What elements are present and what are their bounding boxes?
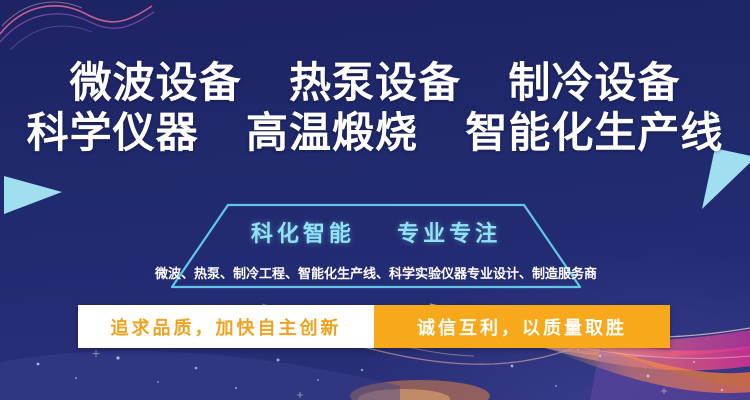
right-triangle-icon <box>702 148 750 217</box>
headline-line-2: 科学仪器 高温煅烧 智能化生产线 <box>0 108 750 158</box>
headline-item-heatpump: 热泵设备 <box>287 59 463 106</box>
headline-line-1: 微波设备 热泵设备 制冷设备 <box>0 58 750 108</box>
slogan-primary-left: 科化智能 <box>251 221 355 246</box>
headline-item-microwave: 微波设备 <box>68 59 244 106</box>
bottom-bar-right: 诚信互利，以质量取胜 <box>374 305 670 348</box>
headline: 微波设备 热泵设备 制冷设备 科学仪器 高温煅烧 智能化生产线 <box>0 58 750 157</box>
left-triangle-icon <box>4 176 62 214</box>
promo-banner: 微波设备 热泵设备 制冷设备 科学仪器 高温煅烧 智能化生产线 科化智能 专业专… <box>0 0 750 400</box>
slogan-sub: 微波、热泵、制冷工程、智能化生产线、科学实验仪器专业设计、制造服务商 <box>100 263 652 282</box>
headline-item-instruments: 科学仪器 <box>25 109 201 156</box>
bottom-bar-left: 追求品质，加快自主创新 <box>78 305 374 348</box>
slogan-primary-right: 专业专注 <box>397 221 501 246</box>
headline-item-production-line: 智能化生产线 <box>463 109 725 156</box>
slogan-primary: 科化智能 专业专注 <box>170 216 582 248</box>
bottom-slogan-bar: 追求品质，加快自主创新 诚信互利，以质量取胜 <box>78 305 670 348</box>
headline-item-refrigeration: 制冷设备 <box>506 59 682 106</box>
headline-item-calcination: 高温煅烧 <box>244 109 420 156</box>
